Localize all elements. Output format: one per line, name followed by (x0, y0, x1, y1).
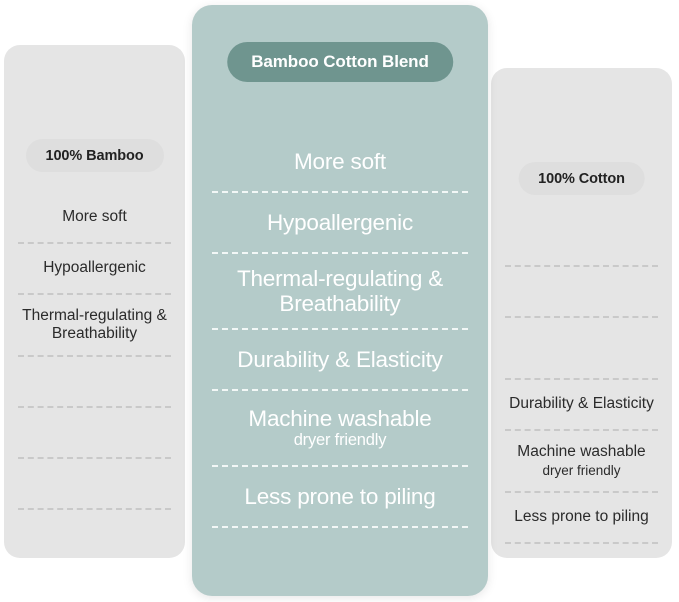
feature-label: Hypoallergenic (43, 259, 146, 277)
feature-row: Durability & Elasticity (212, 330, 468, 391)
feature-row-empty (18, 357, 171, 408)
column-badge-blend: Bamboo Cotton Blend (227, 42, 453, 82)
feature-sublabel: dryer friendly (542, 463, 620, 479)
feature-label: More soft (294, 149, 386, 174)
feature-row: More soft (212, 132, 468, 193)
comparison-infographic: 100% Bamboo More soft Hypoallergenic The… (0, 0, 679, 602)
feature-label: Hypoallergenic (267, 210, 413, 235)
feature-label: Less prone to piling (244, 484, 435, 509)
column-badge-cotton: 100% Cotton (518, 162, 645, 195)
feature-label: Durability & Elasticity (237, 347, 442, 372)
feature-row-empty (18, 459, 171, 510)
feature-row-empty (505, 318, 658, 380)
comparison-column-cotton: 100% Cotton Durability & Elasticity Mach… (491, 68, 672, 558)
feature-row: Hypoallergenic (18, 244, 171, 295)
comparison-column-blend-highlighted: Bamboo Cotton Blend More soft Hypoallerg… (192, 5, 488, 596)
feature-label: Thermal-regulating & Breathability (18, 307, 171, 344)
feature-list-bamboo: More soft Hypoallergenic Thermal-regulat… (4, 193, 185, 510)
feature-row: Thermal-regulating & Breathability (18, 295, 171, 357)
feature-row: Machine washable dryer friendly (505, 431, 658, 493)
feature-label: More soft (62, 208, 127, 226)
feature-row: Hypoallergenic (212, 193, 468, 254)
feature-row: Less prone to piling (505, 493, 658, 544)
feature-row-empty (18, 408, 171, 459)
comparison-column-bamboo: 100% Bamboo More soft Hypoallergenic The… (4, 45, 185, 558)
feature-label: Less prone to piling (514, 508, 648, 526)
feature-row-empty (505, 216, 658, 267)
feature-label: Durability & Elasticity (509, 395, 654, 413)
feature-row: Durability & Elasticity (505, 380, 658, 431)
feature-label: Machine washable (248, 406, 431, 431)
feature-label: Thermal-regulating & Breathability (212, 266, 468, 316)
feature-row: Less prone to piling (212, 467, 468, 528)
feature-label: Machine washable (517, 443, 645, 461)
feature-row: Machine washable dryer friendly (212, 391, 468, 467)
feature-list-cotton: Durability & Elasticity Machine washable… (491, 216, 672, 544)
column-badge-bamboo: 100% Bamboo (25, 139, 163, 172)
feature-row-empty (505, 267, 658, 318)
feature-row: More soft (18, 193, 171, 244)
feature-row: Thermal-regulating & Breathability (212, 254, 468, 330)
feature-sublabel: dryer friendly (294, 431, 387, 450)
feature-list-blend: More soft Hypoallergenic Thermal-regulat… (192, 132, 488, 528)
